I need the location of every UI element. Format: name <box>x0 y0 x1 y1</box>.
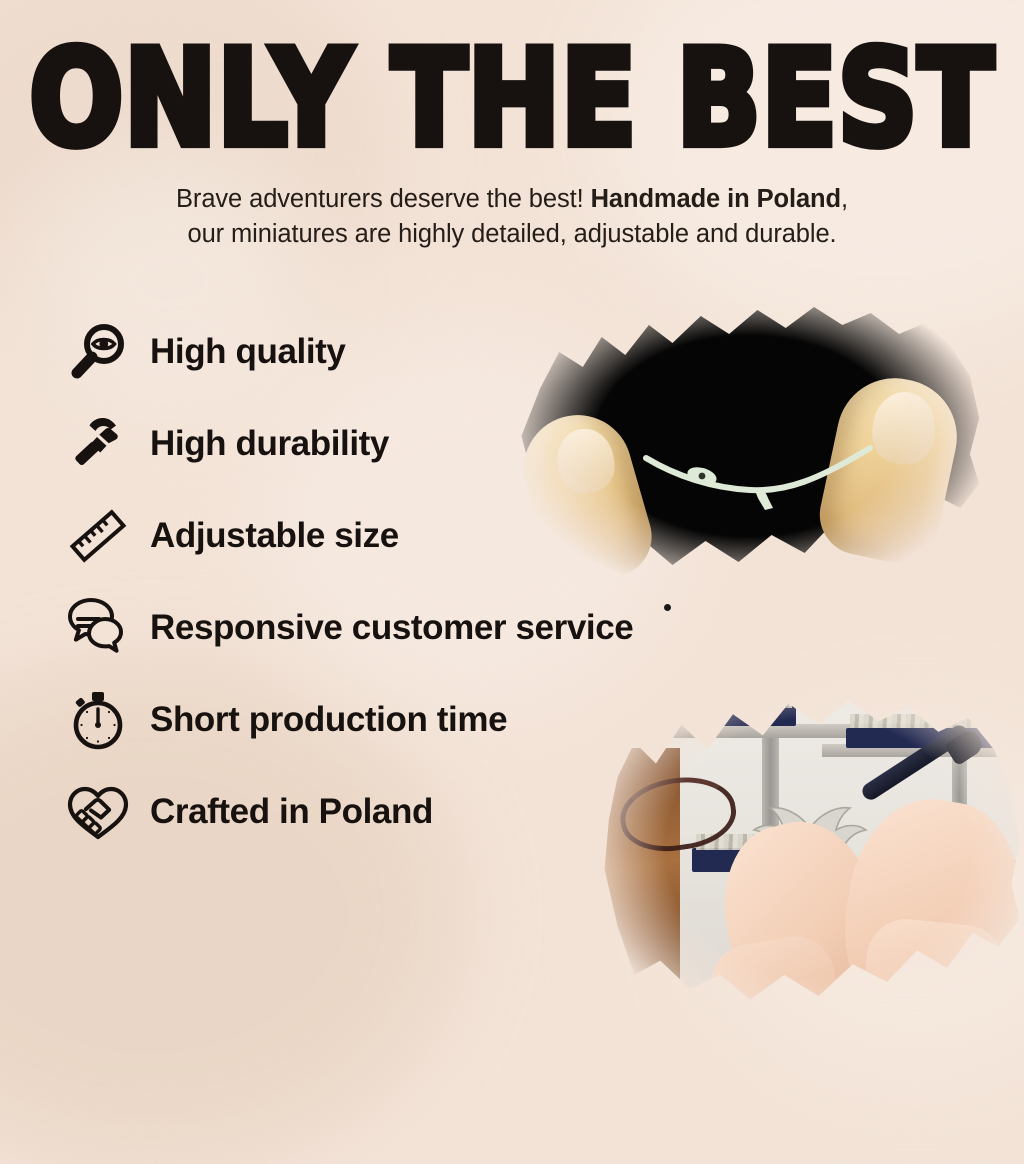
durability-photo <box>512 286 984 586</box>
fingernail <box>869 389 938 467</box>
subtitle-text-lead: Brave adventurers deserve the best! <box>176 185 591 213</box>
hammer-icon <box>62 408 134 480</box>
feature-label: Short production time <box>150 700 507 740</box>
forearm-right <box>858 915 1009 1024</box>
ruler-icon <box>62 500 134 572</box>
magnifier-eye-icon <box>62 316 134 388</box>
subtitle: Brave adventurers deserve the best! Hand… <box>0 182 1024 252</box>
workshop-scene <box>596 672 1024 1024</box>
speech-bubbles-icon <box>62 592 134 664</box>
workshop-photo <box>596 672 1024 1024</box>
subtitle-text-comma: , <box>841 185 848 213</box>
miniature-part <box>638 436 878 510</box>
page-title: ONLY THE BEST <box>0 34 1024 166</box>
stopwatch-icon <box>62 684 134 756</box>
decorative-speck <box>664 604 671 611</box>
handshake-heart-icon <box>62 776 134 848</box>
subtitle-line-2: our miniatures are highly detailed, adju… <box>0 217 1024 252</box>
subtitle-line-1: Brave adventurers deserve the best! Hand… <box>0 182 1024 217</box>
fingernail <box>553 424 619 497</box>
feature-label: Crafted in Poland <box>150 792 433 832</box>
feature-label: Adjustable size <box>150 516 399 556</box>
title-block: ONLY THE BEST <box>0 34 1024 142</box>
subtitle-highlight: Handmade in Poland <box>591 185 841 213</box>
feature-label: Responsive customer service <box>150 608 633 648</box>
feature-label: High quality <box>150 332 345 372</box>
feature-item-customer-service: Responsive customer service <box>62 582 782 674</box>
feature-label: High durability <box>150 424 389 464</box>
